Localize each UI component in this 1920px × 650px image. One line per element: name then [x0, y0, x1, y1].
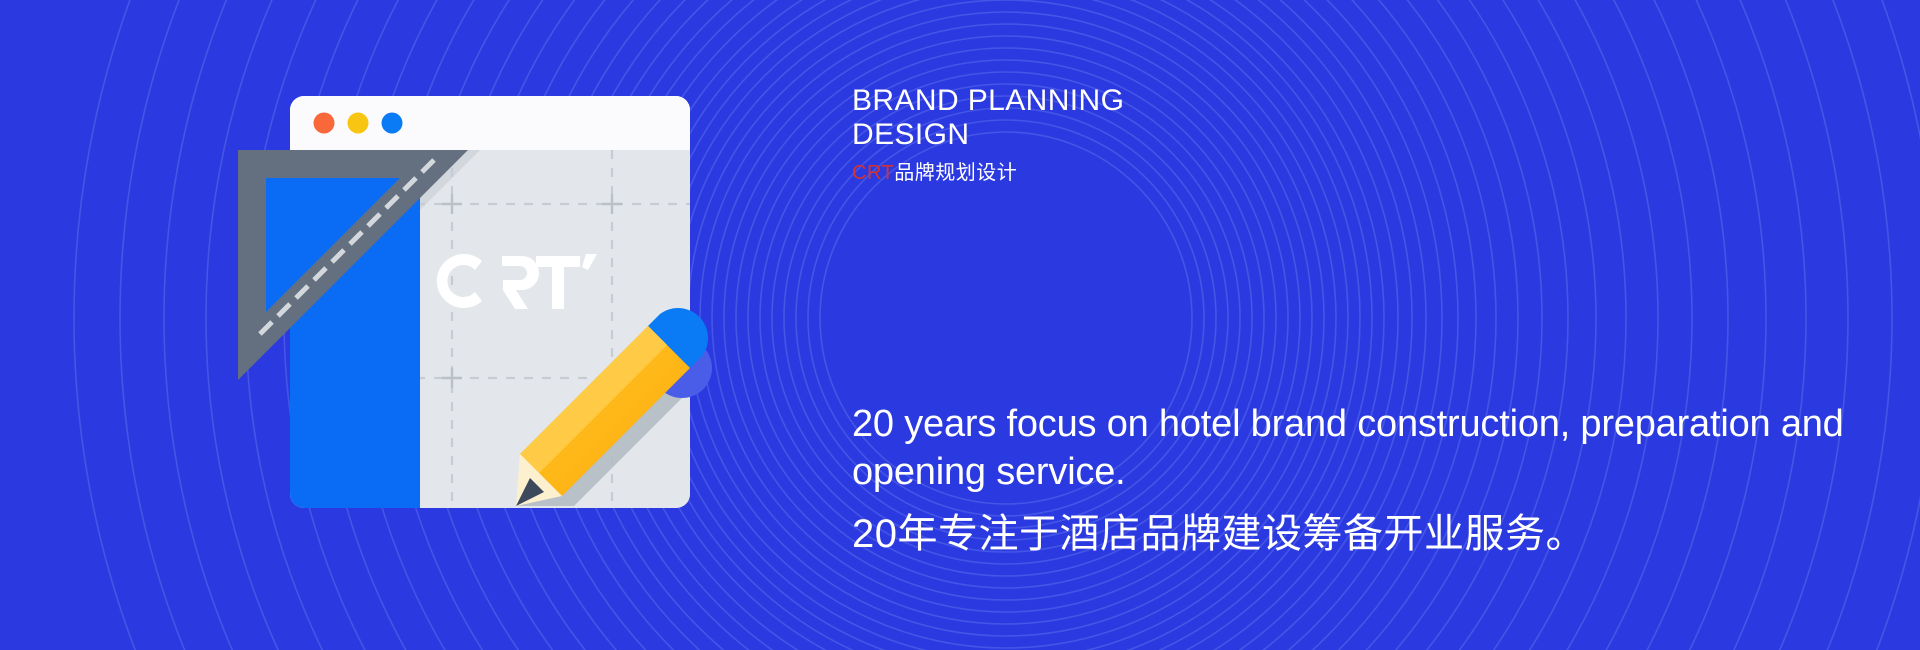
close-dot: [314, 113, 335, 134]
kicker-brand-prefix: CRT: [852, 162, 894, 184]
kicker-title-en: BRAND PLANNING DESIGN: [852, 84, 1872, 152]
minimize-dot: [348, 113, 369, 134]
headline-en: 20 years focus on hotel brand constructi…: [852, 400, 1882, 496]
headline-cn: 20年专注于酒店品牌建设筹备开业服务。: [852, 510, 1882, 558]
hero-banner: BRAND PLANNING DESIGN CRT品牌规划设计 20 years…: [0, 0, 1920, 650]
kicker-title-cn-text: 品牌规划设计: [894, 162, 1017, 184]
maximize-dot: [382, 113, 403, 134]
kicker-title-cn: CRT品牌规划设计: [852, 161, 1872, 185]
brand-design-illustration: [230, 78, 790, 588]
headline-block: 20 years focus on hotel brand constructi…: [852, 400, 1882, 558]
kicker-block: BRAND PLANNING DESIGN CRT品牌规划设计: [852, 84, 1872, 185]
